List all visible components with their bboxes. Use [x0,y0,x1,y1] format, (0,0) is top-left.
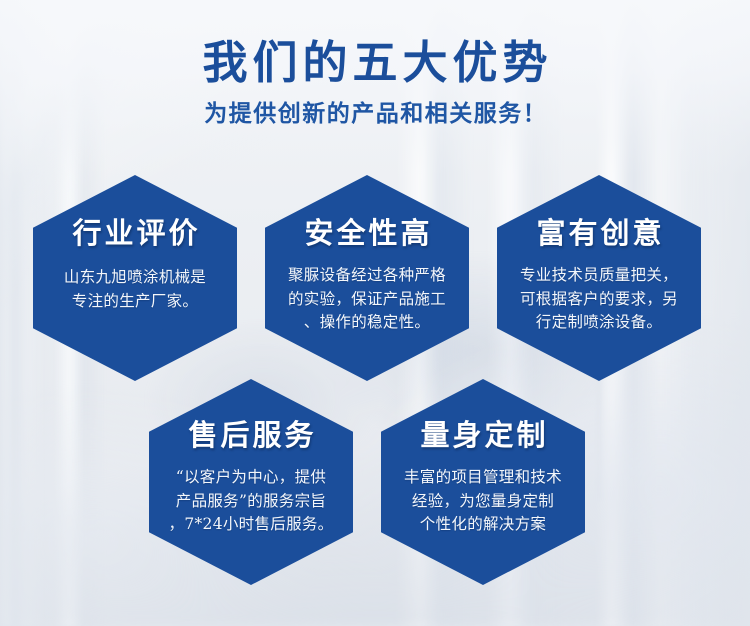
advantage-body-line: 的实验，保证产品施工 [271,288,463,312]
advantage-body: 丰富的项目管理和技术 经验，为您量身定制 个性化的解决方案 [387,466,579,537]
advantage-title: 量身定制 [417,421,548,450]
promo-banner: 我们的五大优势 为提供创新的产品和相关服务！ 行业评价 山东九旭喷涂机械是 专注… [0,0,750,626]
advantage-title: 富有创意 [533,219,664,248]
advantage-body-line: 产品服务”的服务宗旨 [155,490,347,514]
advantage-card-tailored-customization[interactable]: 量身定制 丰富的项目管理和技术 经验，为您量身定制 个性化的解决方案 [381,379,585,585]
advantage-body-line: 专业技术员质量把关， [503,264,695,288]
advantage-title: 行业评价 [69,219,200,248]
advantage-body-line: ，7*24小时售后服务。 [155,513,347,537]
advantage-body: 聚脲设备经过各种严格 的实验，保证产品施工 、操作的稳定性。 [271,264,463,335]
advantage-card-creative[interactable]: 富有创意 专业技术员质量把关， 可根据客户的要求，另 行定制喷涂设备。 [497,175,701,381]
advantage-body-line: 山东九旭喷涂机械是 [39,266,231,290]
advantage-body-line: 丰富的项目管理和技术 [387,466,579,490]
advantage-body-line: 、操作的稳定性。 [271,311,463,335]
advantage-card-industry-rating[interactable]: 行业评价 山东九旭喷涂机械是 专注的生产厂家。 [33,175,237,381]
advantage-title: 安全性高 [301,219,432,248]
advantage-body: 专业技术员质量把关， 可根据客户的要求，另 行定制喷涂设备。 [503,264,695,335]
advantage-title: 售后服务 [185,421,316,450]
page-title: 我们的五大优势 [0,38,750,88]
page-subtitle: 为提供创新的产品和相关服务！ [0,100,750,128]
advantage-card-high-safety[interactable]: 安全性高 聚脲设备经过各种严格 的实验，保证产品施工 、操作的稳定性。 [265,175,469,381]
banner-heading: 我们的五大优势 为提供创新的产品和相关服务！ [0,38,750,128]
advantage-body-line: 可根据客户的要求，另 [503,288,695,312]
advantage-body-line: 经验，为您量身定制 [387,490,579,514]
advantage-body-line: 聚脲设备经过各种严格 [271,264,463,288]
advantage-body-line: “以客户为中心，提供 [155,466,347,490]
advantage-card-after-sales-service[interactable]: 售后服务 “以客户为中心，提供 产品服务”的服务宗旨 ，7*24小时售后服务。 [149,379,353,585]
advantage-body-line: 行定制喷涂设备。 [503,311,695,335]
advantage-body-line: 专注的生产厂家。 [39,290,231,314]
advantage-body: “以客户为中心，提供 产品服务”的服务宗旨 ，7*24小时售后服务。 [155,466,347,537]
advantage-body: 山东九旭喷涂机械是 专注的生产厂家。 [39,266,231,313]
advantage-body-line: 个性化的解决方案 [387,513,579,537]
